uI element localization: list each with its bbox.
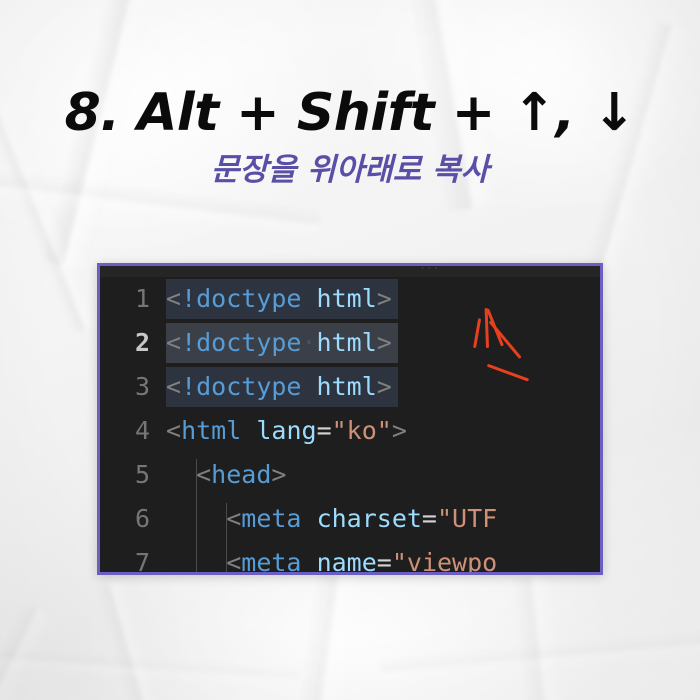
- line-number: 4: [100, 409, 166, 453]
- code-token-ws-dot: ·: [301, 328, 316, 357]
- code-line-text: <head>: [166, 453, 600, 497]
- page-root: 8. Alt + Shift + ↑, ↓ 문장을 위아래로 복사 ··· · …: [0, 0, 700, 700]
- code-token-tag: !doctype: [181, 284, 301, 313]
- code-token-punct: <: [166, 372, 181, 401]
- line-number: 3: [100, 365, 166, 409]
- code-line[interactable]: 2<!doctype·html>: [100, 321, 600, 365]
- code-token-str: "ko": [332, 416, 392, 445]
- breadcrumb-left-text: ··· · ··· ·: [114, 266, 192, 272]
- code-token-eq: =: [317, 416, 332, 445]
- code-line[interactable]: 3<!doctype html>: [100, 365, 600, 409]
- code-token-punct: <: [166, 284, 181, 313]
- code-token-tag: meta: [241, 548, 301, 572]
- code-token-punct: <: [166, 328, 181, 357]
- line-number: 2: [100, 321, 166, 365]
- code-token-punct: >: [377, 372, 392, 401]
- code-token-tag: !doctype: [181, 328, 301, 357]
- code-token-punct: >: [392, 416, 407, 445]
- editor-breadcrumb-bar: ··· · ··· · ··· ··········· · ...: [100, 266, 600, 277]
- indent-guide: [226, 503, 227, 572]
- line-number: 7: [100, 541, 166, 572]
- code-token-tag: head: [211, 460, 271, 489]
- code-line-text: <!doctype html>: [166, 365, 600, 409]
- code-line-text: <meta charset="UTF: [166, 497, 600, 541]
- page-title: 8. Alt + Shift + ↑, ↓: [0, 86, 700, 141]
- line-number: 6: [100, 497, 166, 541]
- code-token-tag: !doctype: [181, 372, 301, 401]
- code-line[interactable]: 1<!doctype html>: [100, 277, 600, 321]
- page-subtitle: 문장을 위아래로 복사: [0, 153, 700, 187]
- code-editor-card: ··· · ··· · ··· ··········· · ... 1<!doc…: [97, 263, 603, 575]
- code-token-tag: meta: [241, 504, 301, 533]
- code-line-text: <meta name="viewpo: [166, 541, 600, 572]
- code-token-punct: >: [377, 328, 392, 357]
- code-token-plain: [301, 284, 316, 313]
- code-line-text: <!doctype·html>: [166, 321, 600, 365]
- line-number: 1: [100, 277, 166, 321]
- code-token-tagname: html: [317, 284, 377, 313]
- code-line[interactable]: 4<html lang="ko">: [100, 409, 600, 453]
- code-token-tagname: html: [317, 372, 377, 401]
- code-token-punct: <: [196, 460, 211, 489]
- code-line[interactable]: 6 <meta charset="UTF: [100, 497, 600, 541]
- code-token-plain: [302, 548, 317, 572]
- code-line-text: <html lang="ko">: [166, 409, 600, 453]
- code-token-punct: <: [226, 548, 241, 572]
- code-token-attr: lang: [256, 416, 316, 445]
- code-token-punct: >: [377, 284, 392, 313]
- code-token-attr: charset: [317, 504, 422, 533]
- code-editor-text-area[interactable]: 1<!doctype html>2<!doctype·html>3<!docty…: [100, 277, 600, 572]
- code-token-str: "viewpo: [392, 548, 497, 572]
- heading-block: 8. Alt + Shift + ↑, ↓ 문장을 위아래로 복사: [0, 86, 700, 187]
- code-token-plain: [301, 372, 316, 401]
- code-token-plain: [302, 504, 317, 533]
- code-token-punct: >: [271, 460, 286, 489]
- code-line[interactable]: 5 <head>: [100, 453, 600, 497]
- code-token-tagname: html: [317, 328, 377, 357]
- code-token-plain: [241, 416, 256, 445]
- code-token-eq: =: [422, 504, 437, 533]
- breadcrumb-right-text: ··· ··········· · ...: [300, 266, 439, 272]
- code-line[interactable]: 7 <meta name="viewpo: [100, 541, 600, 572]
- line-number: 5: [100, 453, 166, 497]
- code-token-attr: name: [317, 548, 377, 572]
- code-line-text: <!doctype html>: [166, 277, 600, 321]
- code-token-punct: <: [166, 416, 181, 445]
- code-token-str: "UTF: [437, 504, 497, 533]
- indent-guide: [196, 459, 197, 572]
- code-token-plain: [166, 460, 196, 489]
- code-token-eq: =: [377, 548, 392, 572]
- code-token-tag: html: [181, 416, 241, 445]
- code-token-punct: <: [226, 504, 241, 533]
